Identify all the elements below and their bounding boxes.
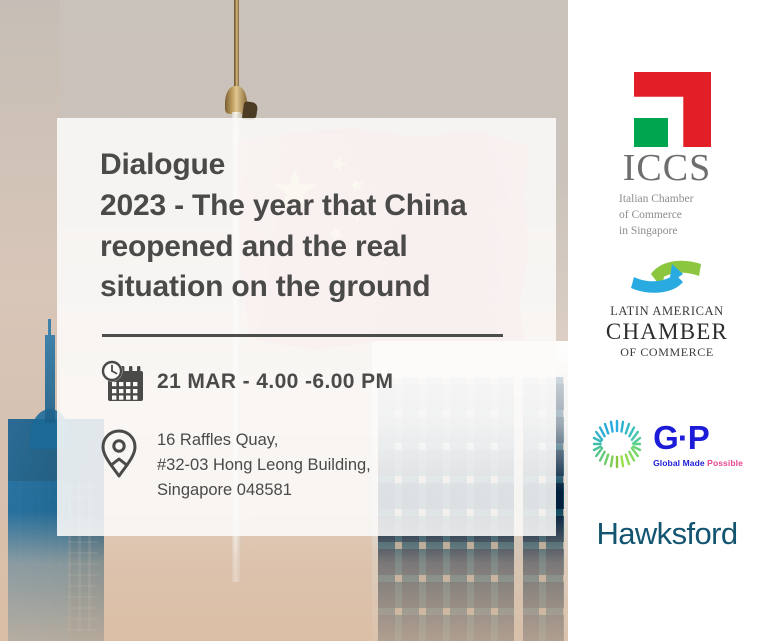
iccs-wordmark: ICCS <box>623 149 711 187</box>
event-address: 16 Raffles Quay, #32-03 Hong Leong Build… <box>157 428 371 503</box>
iccs-subtitle-line-2: of Commerce <box>619 208 715 224</box>
gp-burst-icon <box>591 418 643 470</box>
lac-line-3: OF COMMERCE <box>606 345 728 360</box>
content-card: Dialogue 2023 - The year that China reop… <box>57 118 556 536</box>
title-line-2: 2023 - The year that China <box>100 186 530 227</box>
location-pin-icon <box>99 428 157 480</box>
address-line-2: #32-03 Hong Leong Building, <box>157 453 371 478</box>
gp-wordmark: G·P <box>653 421 709 454</box>
title-line-1: Dialogue <box>100 145 530 186</box>
iccs-green-square <box>634 118 668 147</box>
logo-latin-american-chamber: LATIN AMERICAN CHAMBER OF COMMERCE <box>568 252 766 360</box>
hawksford-wordmark: Hawksford <box>596 516 737 552</box>
iccs-subtitle-line-3: in Singapore <box>619 224 715 240</box>
title-line-3: reopened and the real <box>100 227 530 268</box>
lac-swirl-arrows-icon <box>621 252 713 300</box>
gp-tagline-blue: Global Made <box>653 458 707 468</box>
gp-text-group: G·P Global Made Possible <box>653 421 743 468</box>
title-line-4: situation on the ground <box>100 267 530 308</box>
skyscraper-antenna <box>45 335 55 423</box>
iccs-subtitle-line-1: Italian Chamber <box>619 192 715 208</box>
logo-iccs: ICCS Italian Chamber of Commerce in Sing… <box>568 72 766 240</box>
calendar-clock-icon <box>99 360 157 404</box>
lac-wordmark: LATIN AMERICAN CHAMBER OF COMMERCE <box>606 304 728 360</box>
lac-line-1: LATIN AMERICAN <box>606 304 728 319</box>
logo-globalization-partners: G·P Global Made Possible <box>568 418 766 470</box>
gp-tagline: Global Made Possible <box>653 458 743 468</box>
datetime-row: 21 MAR - 4.00 -6.00 PM <box>99 360 393 404</box>
iccs-subtitle: Italian Chamber of Commerce in Singapore <box>619 192 715 240</box>
address-row: 16 Raffles Quay, #32-03 Hong Leong Build… <box>99 428 371 503</box>
gp-tagline-pink: Possible <box>707 458 743 468</box>
address-line-3: Singapore 048581 <box>157 478 371 503</box>
address-line-1: 16 Raffles Quay, <box>157 428 371 453</box>
sponsor-logo-column: ICCS Italian Chamber of Commerce in Sing… <box>568 0 766 641</box>
lac-line-2: CHAMBER <box>606 319 728 345</box>
logo-hawksford: Hawksford <box>568 516 766 552</box>
title-divider <box>102 334 503 337</box>
iccs-mark-icon <box>623 72 711 147</box>
gp-logo-row: G·P Global Made Possible <box>591 418 743 470</box>
event-datetime: 21 MAR - 4.00 -6.00 PM <box>157 370 393 394</box>
event-poster: Dialogue 2023 - The year that China reop… <box>0 0 766 641</box>
event-title: Dialogue 2023 - The year that China reop… <box>100 145 530 308</box>
